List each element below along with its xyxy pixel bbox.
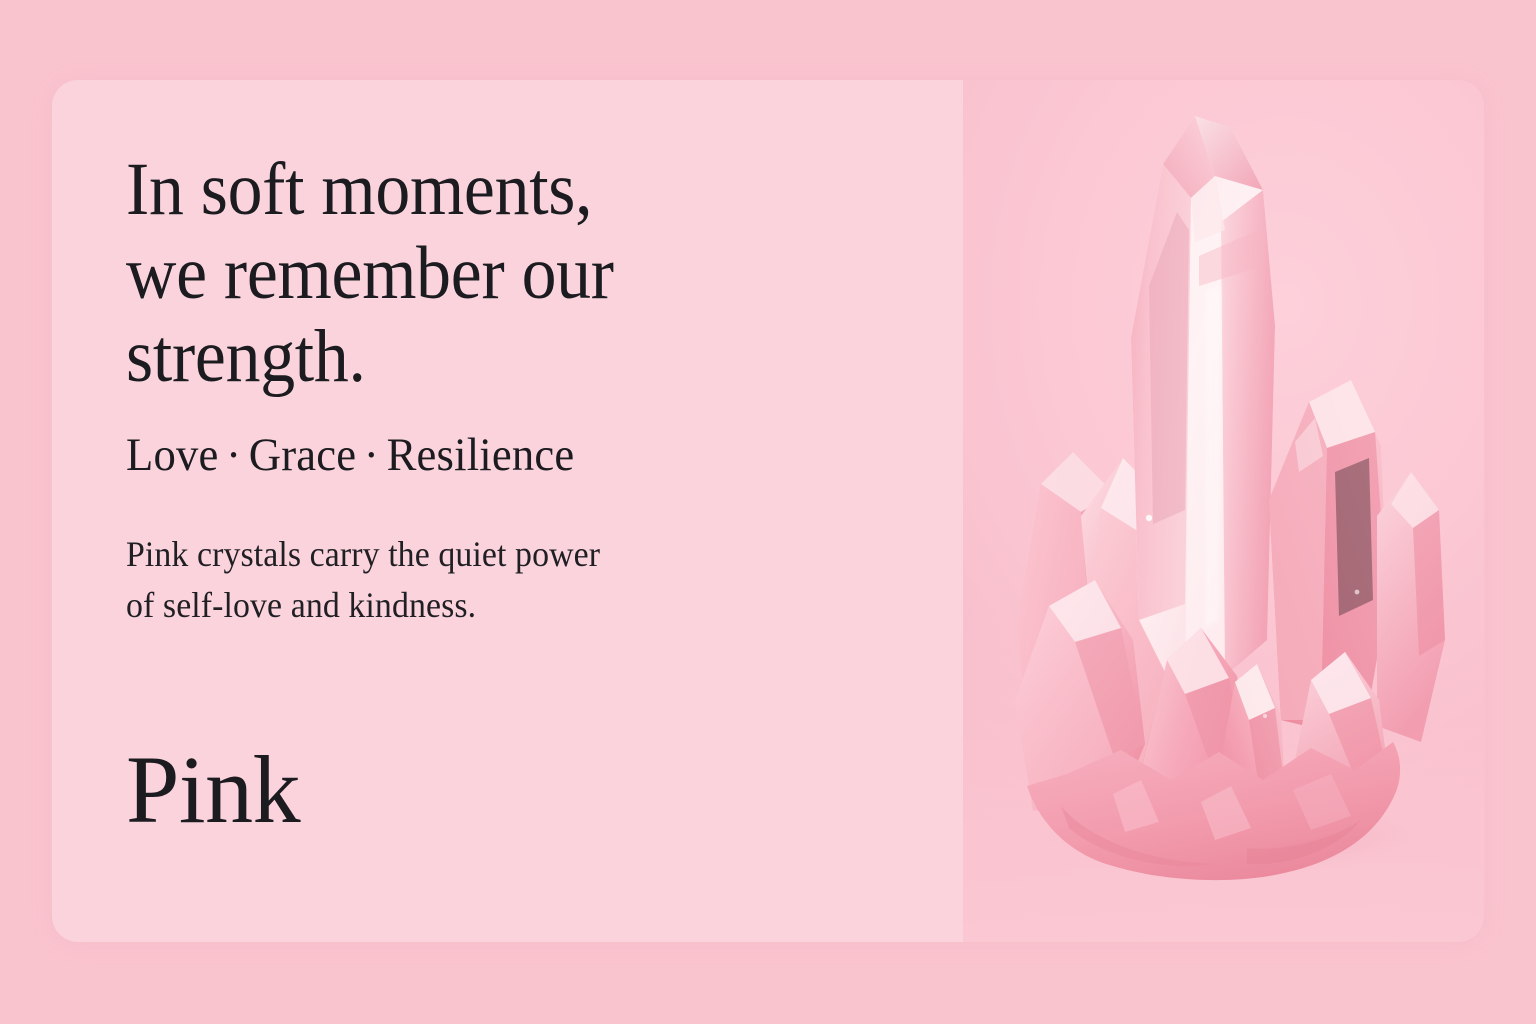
sparkle-1 bbox=[1146, 515, 1152, 521]
attribute-grace: Grace bbox=[249, 429, 357, 481]
sparkle-3 bbox=[1263, 714, 1267, 718]
attribute-love: Love bbox=[126, 429, 219, 481]
crystal-point-center-tall bbox=[1131, 116, 1275, 700]
wordmark: Pink bbox=[126, 742, 300, 838]
separator-dot-1: · bbox=[219, 429, 249, 481]
rose-quartz-crystal-image bbox=[963, 80, 1484, 942]
attribute-list: Love·Grace·Resilience bbox=[126, 428, 921, 482]
body-copy: Pink crystals carry the quiet power of s… bbox=[126, 529, 913, 631]
headline: In soft moments, we remember our strengt… bbox=[126, 148, 904, 399]
crystal-illustration bbox=[963, 80, 1484, 942]
content-card: In soft moments, we remember our strengt… bbox=[52, 80, 1484, 942]
image-panel bbox=[963, 80, 1484, 942]
separator-dot-2: · bbox=[356, 429, 386, 481]
crystal-point-right-outer bbox=[1377, 472, 1445, 742]
sparkle-2 bbox=[1355, 590, 1360, 595]
poster-canvas: In soft moments, we remember our strengt… bbox=[0, 0, 1536, 1024]
attribute-resilience: Resilience bbox=[387, 429, 575, 481]
text-panel: In soft moments, we remember our strengt… bbox=[52, 80, 963, 942]
